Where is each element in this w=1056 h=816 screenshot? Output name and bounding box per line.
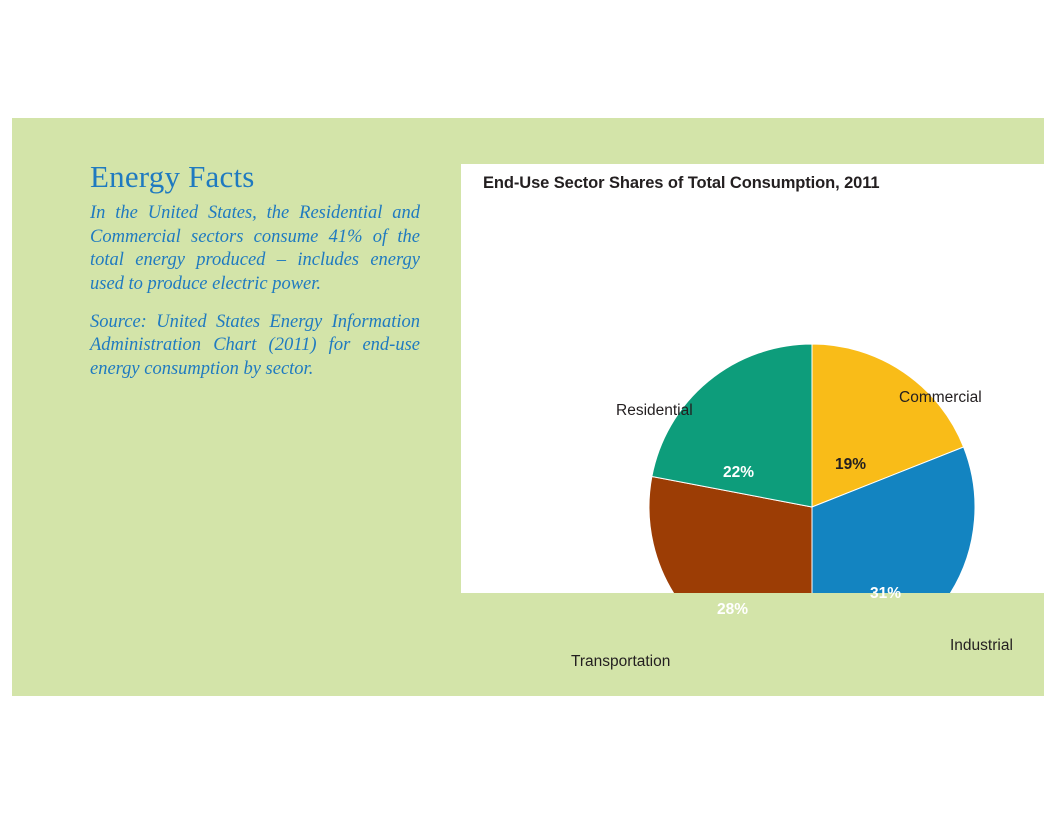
slide-text-column: Energy Facts In the United States, the R…	[90, 160, 420, 382]
pie-value-label-commercial: 19%	[835, 456, 866, 474]
chart-card: End-Use Sector Shares of Total Consumpti…	[461, 164, 1044, 593]
pie-category-label-residential: Residential	[616, 402, 693, 420]
pie-value-label-transportation: 28%	[717, 601, 748, 619]
pie-value-label-residential: 22%	[723, 464, 754, 482]
pie-category-label-industrial: Industrial	[950, 637, 1013, 655]
page-title: Energy Facts	[90, 160, 420, 194]
slide-background-panel: Energy Facts In the United States, the R…	[12, 118, 1044, 696]
pie-chart-svg	[461, 164, 1044, 593]
body-paragraph-source: Source: United States Energy Information…	[90, 311, 420, 382]
pie-category-label-commercial: Commercial	[899, 389, 982, 407]
body-paragraph-fact: In the United States, the Residential an…	[90, 202, 420, 297]
pie-value-label-industrial: 31%	[870, 585, 901, 603]
pie-slice-group	[649, 344, 975, 593]
pie-category-label-transportation: Transportation	[571, 653, 670, 671]
pie-chart: 19% 31% 28% 22% Commercial Industrial Tr…	[461, 164, 1044, 593]
